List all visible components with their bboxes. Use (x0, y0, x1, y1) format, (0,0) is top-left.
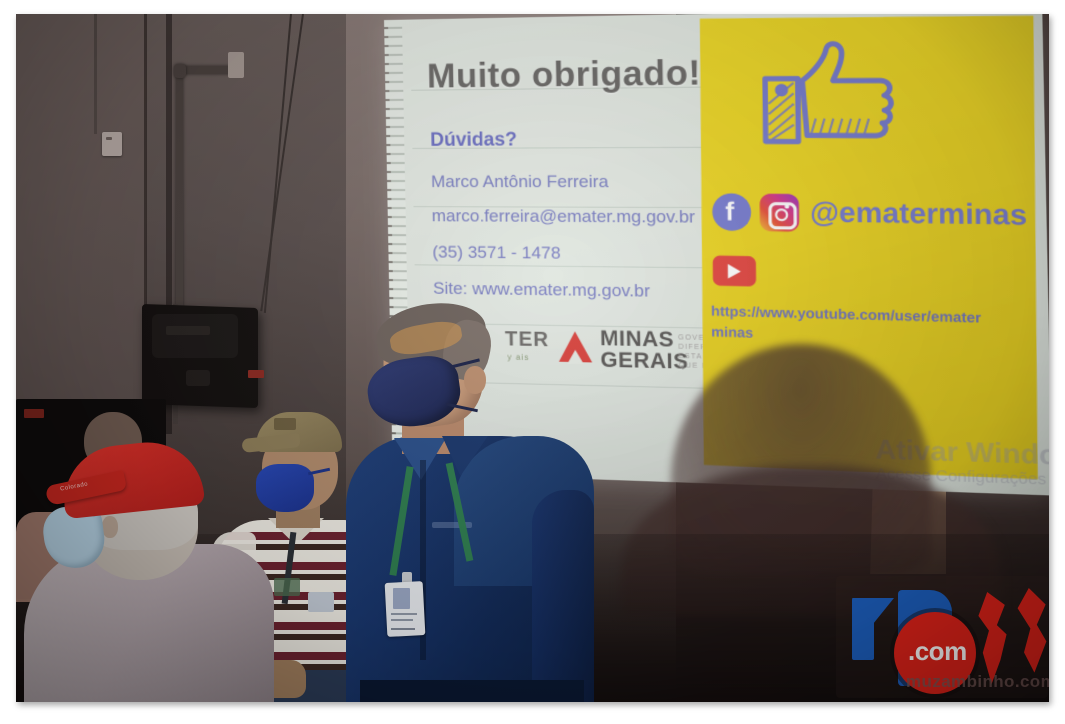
tan-cap-logo (274, 418, 296, 430)
contact-name: Marco Antônio Ferreira (431, 172, 609, 193)
slide-title: Muito obrigado! (427, 53, 702, 96)
instagram-lens (775, 208, 788, 221)
contact-site: Site: www.emater.mg.gov.br (433, 279, 650, 302)
thumbs-up-icon (756, 40, 912, 155)
speaker-port (186, 370, 210, 386)
slide-section-heading: Dúvidas? (430, 129, 517, 152)
person-red-cap: Colorado (24, 444, 274, 702)
speaker-grille (152, 314, 238, 358)
conduit-elbow (174, 64, 186, 78)
contact-email: marco.ferreira@emater.mg.gov.br (432, 206, 696, 228)
wall-switch-toggle (106, 137, 112, 140)
minas-gerais-logo-text: MINAS GERAIS (600, 328, 689, 373)
facebook-glyph: f (725, 199, 734, 225)
polo-pocket (274, 578, 300, 596)
cabinet-label (24, 409, 44, 418)
conduit-pipe-vertical (176, 72, 183, 317)
polo-man-badge (308, 592, 334, 612)
conduit-strip (94, 14, 97, 134)
photograph: Muito obrigado! Dúvidas? Marco Antônio F… (16, 14, 1049, 702)
person-presenter (346, 310, 596, 702)
presenter-arm (532, 490, 594, 702)
id-badge-text-line (391, 613, 417, 615)
speaker-red-label (248, 370, 264, 378)
watermark-domain-text: muzambinho.com (906, 672, 1049, 692)
presenter-ear (464, 366, 486, 394)
junction-box (228, 52, 244, 78)
red-cap-man-ear (102, 516, 118, 538)
instagram-dot (785, 204, 789, 208)
logo-com-text: .com (908, 636, 968, 667)
id-badge-text-line (391, 619, 413, 621)
id-badge-text-line (391, 628, 415, 630)
minas-line2: GERAIS (600, 348, 689, 374)
photo-frame: Muito obrigado! Dúvidas? Marco Antônio F… (0, 0, 1065, 724)
id-badge-photo (393, 588, 410, 609)
presenter-waist (360, 680, 584, 702)
youtube-play-glyph (728, 264, 741, 279)
youtube-url: https://www.youtube.com/user/ematerminas (711, 301, 986, 351)
speaker-brand-badge (166, 326, 210, 335)
wall-switch-box (102, 132, 122, 156)
contact-phone: (35) 3571 - 1478 (432, 242, 561, 263)
social-handle: @ematerminas (810, 196, 1027, 232)
site-watermark-logo: .com muzambinho.com (836, 576, 1048, 698)
